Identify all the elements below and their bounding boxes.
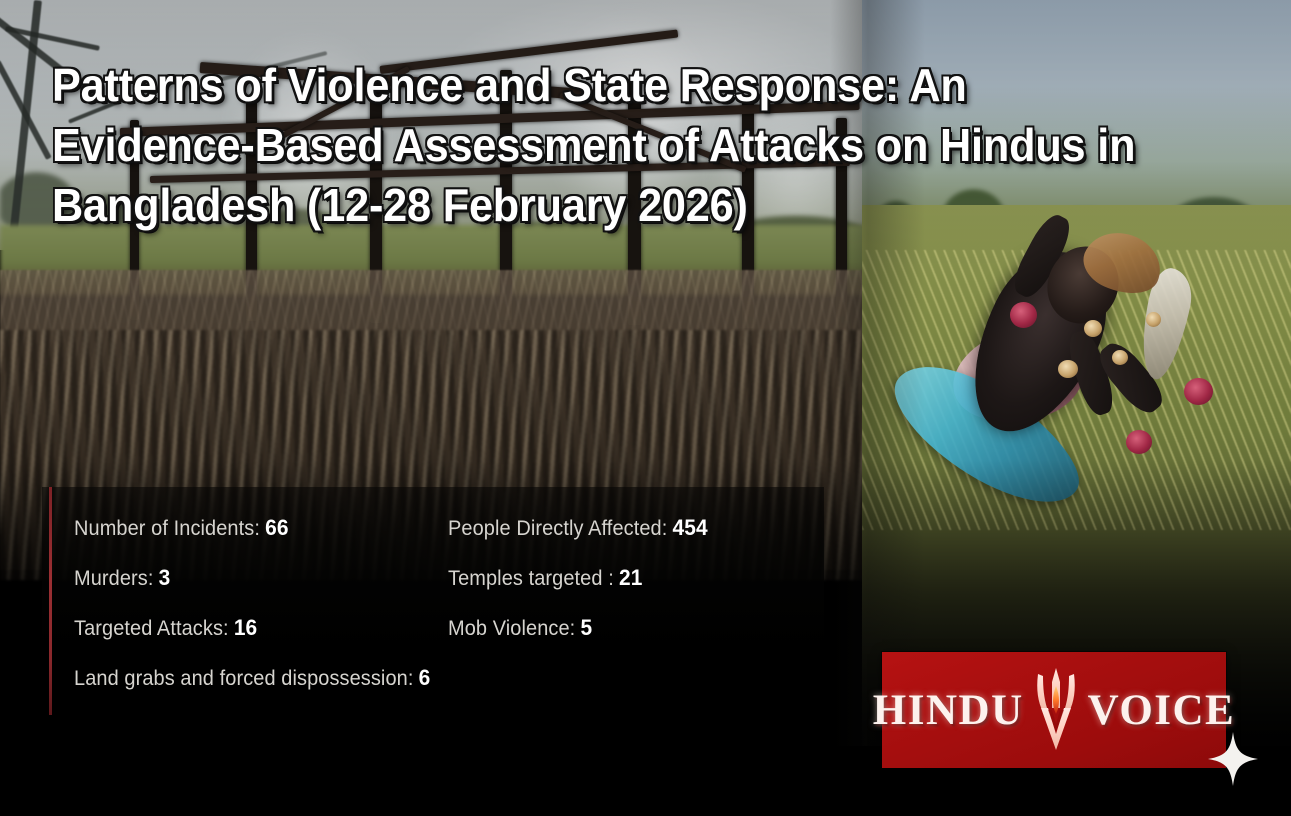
stat-row-targeted-attacks: Targeted Attacks: 16 (74, 615, 267, 641)
idol-ornament (1084, 320, 1102, 337)
hindu-voice-logo[interactable]: HINDU (882, 652, 1226, 768)
stat-row-incidents: Number of Incidents: 66 (74, 515, 300, 541)
stat-value: 454 (673, 515, 708, 540)
idol-ornament (1146, 312, 1161, 327)
stat-value: 3 (159, 565, 171, 590)
stat-label: Mob Violence: (448, 617, 575, 640)
stat-value: 5 (580, 615, 592, 640)
idol-hand (1184, 378, 1213, 405)
stat-label: Temples targeted : (448, 567, 614, 590)
stat-label: Targeted Attacks: (74, 617, 229, 640)
idol-ornament (1112, 350, 1128, 365)
title-line-1: Patterns of Violence and State Response:… (52, 56, 1166, 116)
stat-value: 66 (265, 515, 288, 540)
infographic-poster: Patterns of Violence and State Response:… (0, 0, 1291, 816)
title-line-3: Bangladesh (12-28 February 2026) (52, 176, 1166, 236)
stat-label: People Directly Affected: (448, 517, 667, 540)
stat-label: Murders: (74, 567, 153, 590)
idol-hand (1126, 430, 1152, 454)
stat-row-land-grabs: Land grabs and forced dispossession: 6 (74, 665, 449, 691)
trident-icon (1030, 668, 1082, 752)
stat-row-temples-targeted: Temples targeted : 21 (448, 565, 653, 591)
idol-hand (1010, 302, 1037, 328)
idol-ornament (1058, 360, 1078, 378)
accent-bar (49, 487, 52, 715)
logo-word-hindu: HINDU (873, 686, 1024, 735)
sparkle-icon (1208, 732, 1258, 786)
stat-value: 16 (234, 615, 257, 640)
page-title: Patterns of Violence and State Response:… (52, 56, 1166, 235)
stat-label: Number of Incidents: (74, 517, 260, 540)
stat-label: Land grabs and forced dispossession: (74, 667, 413, 690)
title-line-2: Evidence-Based Assessment of Attacks on … (52, 116, 1166, 176)
stat-row-people-affected: People Directly Affected: 454 (448, 515, 721, 541)
stat-row-murders: Murders: 3 (74, 565, 175, 591)
stat-value: 6 (419, 665, 431, 690)
stat-row-mob-violence: Mob Violence: 5 (448, 615, 600, 641)
logo-word-voice: VOICE (1088, 686, 1236, 735)
stat-value: 21 (619, 565, 642, 590)
